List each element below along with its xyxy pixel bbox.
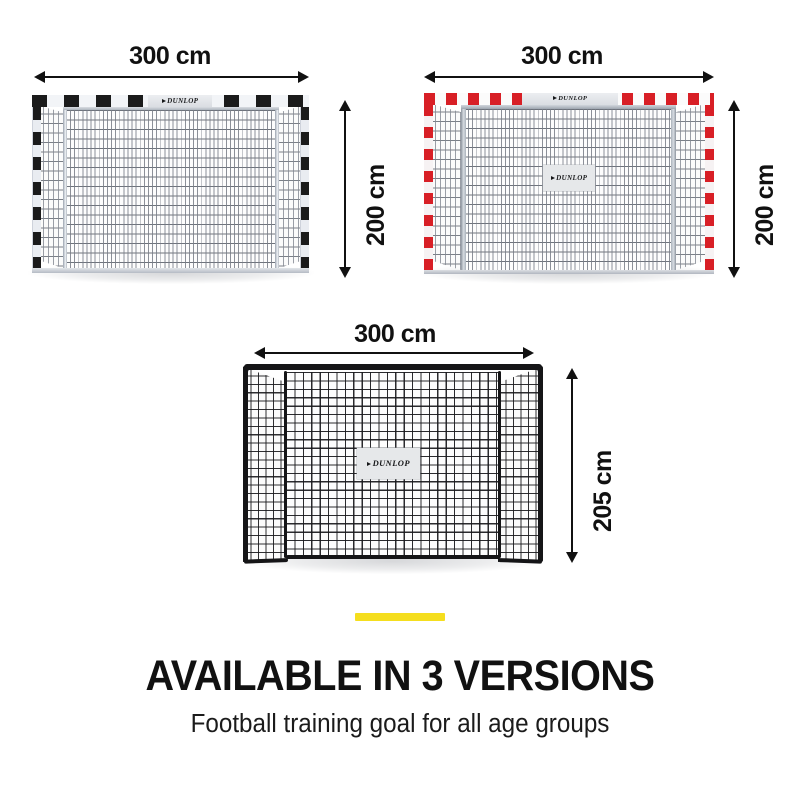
goal-ground-bar <box>32 268 309 273</box>
goal-corner-left <box>243 364 255 376</box>
height-arrow-goal-2 <box>727 100 741 278</box>
brand-band-crossbar: DUNLOP <box>148 95 212 107</box>
height-label-goal-1: 200 cm <box>362 164 391 246</box>
dunlop-flash-icon <box>162 99 166 103</box>
brand-wordmark-crossbar: DUNLOP <box>553 96 588 103</box>
arrow-shaft <box>430 76 708 78</box>
brand-patch-net: DUNLOP <box>543 165 595 191</box>
arrow-head-right-icon <box>523 347 534 359</box>
arrow-shaft <box>40 76 303 78</box>
width-arrow-goal-3 <box>254 346 534 360</box>
arrow-head-bottom-icon <box>566 552 578 563</box>
arrow-shaft <box>733 106 735 272</box>
goal-crossbar <box>244 364 542 370</box>
arrow-head-bottom-icon <box>339 267 351 278</box>
accent-bar <box>355 613 445 621</box>
brand-wordmark-net: DUNLOP <box>367 459 410 468</box>
arrow-head-right-icon <box>298 71 309 83</box>
arrow-head-bottom-icon <box>728 267 740 278</box>
goal-post-inner-left <box>461 106 466 272</box>
product-goal-red-white: 300 cm 200 cm <box>400 0 800 300</box>
height-arrow-goal-3 <box>565 368 579 563</box>
height-arrow-goal-1 <box>338 100 352 278</box>
arrow-shaft <box>571 374 573 557</box>
dunlop-flash-icon <box>553 96 557 100</box>
width-label-goal-2: 300 cm <box>422 42 702 71</box>
width-label-goal-1: 300 cm <box>30 42 310 71</box>
arrow-head-right-icon <box>703 71 714 83</box>
brand-patch-net: DUNLOP <box>357 448 420 479</box>
dunlop-flash-icon <box>551 176 555 180</box>
dunlop-flash-icon <box>367 462 371 466</box>
width-arrow-goal-1 <box>34 70 309 84</box>
arrow-shaft <box>260 352 528 354</box>
goal-post-checkered-right <box>705 105 714 273</box>
brand-wordmark-net: DUNLOP <box>551 175 588 182</box>
footer-block: AVAILABLE IN 3 VERSIONS Football trainin… <box>0 600 800 800</box>
subline: Football training goal for all age group… <box>20 712 780 738</box>
width-arrow-goal-2 <box>424 70 714 84</box>
product-goal-white-black: 300 cm 200 cm <box>0 0 400 300</box>
net-front <box>66 110 276 268</box>
goal-post-inner-right <box>671 106 676 272</box>
goal-post-inner-right <box>275 108 279 270</box>
goal-post-inner-right <box>498 371 501 558</box>
goal-post-checkered-right <box>301 107 309 272</box>
headline: AVAILABLE IN 3 VERSIONS <box>32 655 768 698</box>
goal-post-checkered-left <box>33 107 41 272</box>
goal-post-checkered-left <box>424 105 433 273</box>
goal-post-inner-left <box>63 108 67 270</box>
brand-wordmark-crossbar: DUNLOP <box>162 98 199 105</box>
width-label-goal-3: 300 cm <box>255 320 535 349</box>
net-side-left <box>243 367 287 562</box>
net-side-right <box>498 367 542 562</box>
height-label-goal-3: 205 cm <box>589 450 618 532</box>
height-label-goal-2: 200 cm <box>751 164 780 246</box>
goal-post-left <box>243 366 248 562</box>
brand-band-crossbar: DUNLOP <box>522 93 618 105</box>
goal-post-inner-left <box>284 371 287 558</box>
goal-ground-bar <box>286 555 500 559</box>
goal-ground-bar <box>424 270 714 274</box>
infographic-canvas: 300 cm 200 cm <box>0 0 800 800</box>
goal-post-right <box>538 366 543 562</box>
arrow-shaft <box>344 106 346 272</box>
product-goal-black: 300 cm 205 cm <box>200 300 620 590</box>
